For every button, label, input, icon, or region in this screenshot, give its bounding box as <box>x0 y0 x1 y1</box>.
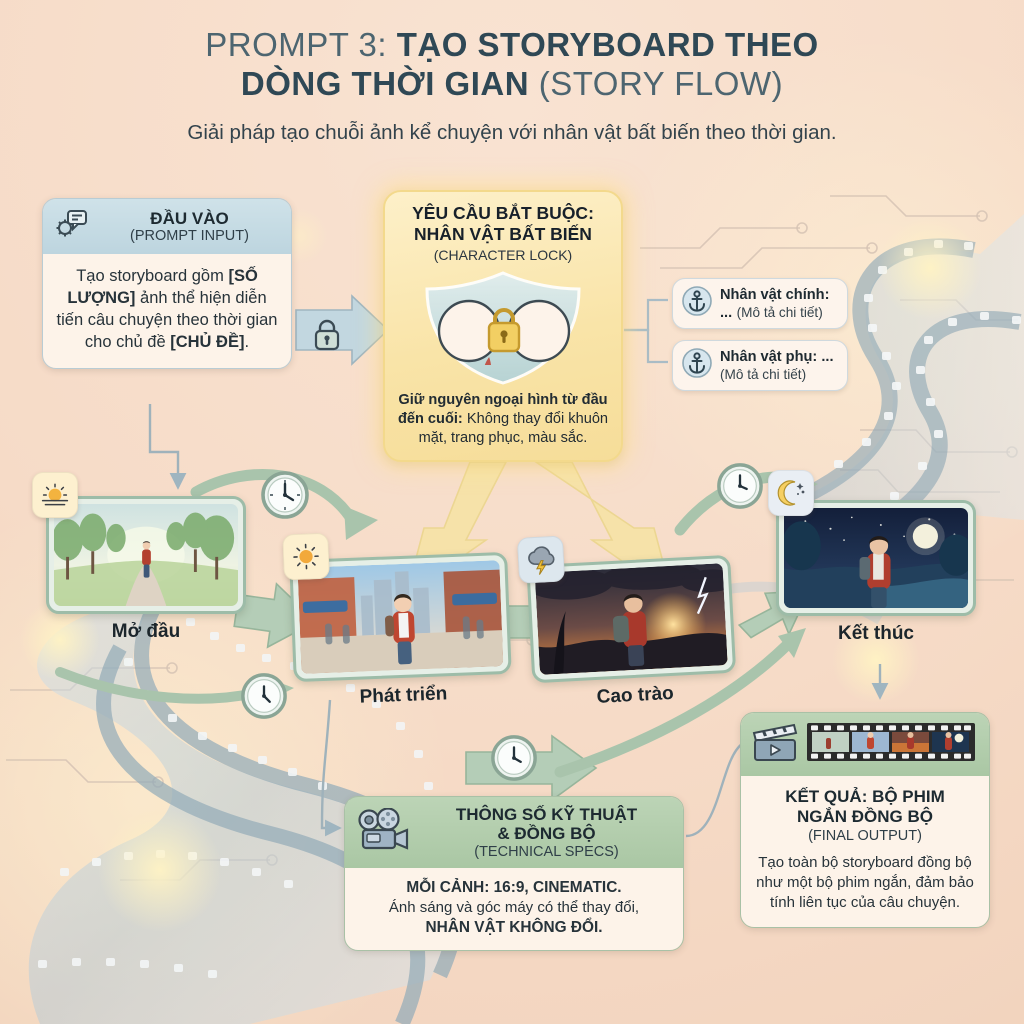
lock-card-note: Giữ nguyên ngoại hình từ đầu đến cuối: K… <box>395 391 611 448</box>
scene-card-1: Mở đầu <box>46 496 246 643</box>
chip-side-character[interactable]: Nhân vật phụ: ... (Mô tả chi tiết) <box>672 340 848 391</box>
scene-card-2: Phát triển <box>289 552 513 711</box>
final-output-note: Tạo toàn bộ storyboard đồng bộ như một b… <box>753 853 977 913</box>
clock-icon <box>240 672 288 725</box>
final-output-subtitle: (FINAL OUTPUT) <box>753 828 977 844</box>
lock-card-title-line2: NHÂN VẬT BẤT BIẾN <box>395 224 611 245</box>
anchor-icon <box>681 347 713 384</box>
anchor-icon <box>681 285 713 322</box>
tech-specs-line-ratio: MỖI CẢNH: 16:9, CINEMATIC. <box>357 878 671 898</box>
input-card-body: Tạo storyboard gồm [SỐ LƯỢNG] ảnh thể hi… <box>43 254 291 368</box>
final-output-header <box>741 713 989 776</box>
clock-icon <box>260 470 310 525</box>
tech-specs-line-character: NHÂN VẬT KHÔNG ĐỔI. <box>357 918 671 938</box>
input-body-part1: Tạo storyboard gồm <box>76 267 228 285</box>
chip-side-label: Nhân vật phụ: ... <box>720 349 834 365</box>
storm-cloud-icon <box>517 535 565 583</box>
page-title-line2: DÒNG THỜI GIAN (STORY FLOW) <box>0 65 1024 104</box>
tech-specs-body: MỖI CẢNH: 16:9, CINEMATIC. Ánh sáng và g… <box>345 868 683 950</box>
filmstrip-icon <box>807 721 975 768</box>
tech-specs-line-lighting: Ánh sáng và góc máy có thể thay đổi, <box>357 898 671 918</box>
movie-camera-icon <box>355 808 411 857</box>
sunrise-icon <box>32 472 78 518</box>
input-card-subtitle: (PROMPT INPUT) <box>99 228 280 245</box>
chip-side-detail: (Mô tả chi tiết) <box>720 367 806 382</box>
scene-4-caption: Kết thúc <box>776 623 976 645</box>
connector-tech-to-final <box>686 744 742 836</box>
clock-icon <box>490 734 538 787</box>
input-body-placeholder-topic: [CHỦ ĐỀ] <box>170 333 244 351</box>
page-title-line1: PROMPT 3: TẠO STORYBOARD THEO <box>0 26 1024 65</box>
scene-card-4: Kết thúc <box>776 500 976 645</box>
tech-specs-title-block: THÔNG SỐ KỸ THUẬT & ĐỒNG BỘ (TECHNICAL S… <box>420 805 673 860</box>
tech-specs-card: THÔNG SỐ KỸ THUẬT & ĐỒNG BỘ (TECHNICAL S… <box>344 796 684 951</box>
scene-1-frame <box>46 496 246 614</box>
input-card-title: ĐẦU VÀO <box>99 209 280 228</box>
final-output-body: KẾT QUẢ: BỘ PHIM NGẮN ĐỒNG BỘ (FINAL OUT… <box>741 776 989 927</box>
scene-4-frame <box>776 500 976 616</box>
scene-3-image <box>535 563 728 675</box>
infographic-canvas: PROMPT 3: TẠO STORYBOARD THEO DÒNG THỜI … <box>0 0 1024 1024</box>
scene-2-image <box>297 560 503 674</box>
chip-main-detail: (Mô tả chi tiết) <box>737 305 823 320</box>
lock-card-subtitle: (CHARACTER LOCK) <box>395 247 611 263</box>
input-card-header: ĐẦU VÀO (PROMPT INPUT) <box>43 199 291 254</box>
final-output-title-line2: NGẮN ĐỒNG BỘ <box>753 807 977 827</box>
tech-specs-title-line1: THÔNG SỐ KỸ THUẬT <box>420 805 673 824</box>
title-story-flow: (STORY FLOW) <box>539 65 783 102</box>
scene-card-3: Cao trào <box>526 555 737 712</box>
scene-1-image <box>54 504 238 606</box>
scene-1-caption: Mở đầu <box>46 621 246 643</box>
scene-4-image <box>784 508 968 608</box>
input-card: ĐẦU VÀO (PROMPT INPUT) Tạo storyboard gồ… <box>42 198 292 369</box>
clock-icon <box>716 462 764 515</box>
lock-card-title-line1: YÊU CẦU BẮT BUỘC: <box>395 203 611 224</box>
title-prompt-prefix: PROMPT 3: <box>205 26 396 63</box>
page-subtitle: Giải pháp tạo chuỗi ảnh kể chuyện với nh… <box>0 121 1024 145</box>
chip-main-text: Nhân vật chính: ... (Mô tả chi tiết) <box>720 286 835 322</box>
gear-chat-icon <box>54 208 90 245</box>
chip-main-character[interactable]: Nhân vật chính: ... (Mô tả chi tiết) <box>672 278 848 329</box>
connector-input-to-scene1 <box>150 404 178 486</box>
title-main-2: DÒNG THỜI GIAN <box>241 65 539 102</box>
shield-characters-lock-icon <box>395 269 611 387</box>
final-output-title-line1: KẾT QUẢ: BỘ PHIM <box>753 787 977 807</box>
tech-specs-subtitle: (TECHNICAL SPECS) <box>420 844 673 861</box>
moon-stars-icon <box>768 470 814 516</box>
connector-lock-to-chips <box>624 300 668 362</box>
tech-specs-header: THÔNG SỐ KỸ THUẬT & ĐỒNG BỘ (TECHNICAL S… <box>345 797 683 868</box>
input-card-title-block: ĐẦU VÀO (PROMPT INPUT) <box>99 209 280 245</box>
sun-icon <box>282 533 330 581</box>
connector-input-to-lock <box>296 296 388 364</box>
chip-side-text: Nhân vật phụ: ... (Mô tả chi tiết) <box>720 348 835 384</box>
clapperboard-icon <box>750 721 800 768</box>
lock-icon <box>312 318 342 357</box>
title-main-1: TẠO STORYBOARD THEO <box>397 26 819 63</box>
input-body-part3: . <box>244 333 249 351</box>
character-lock-card: YÊU CẦU BẮT BUỘC: NHÂN VẬT BẤT BIẾN (CHA… <box>383 190 623 462</box>
arrowhead-arc-1 <box>344 506 378 540</box>
header: PROMPT 3: TẠO STORYBOARD THEO DÒNG THỜI … <box>0 26 1024 145</box>
tech-specs-title-line2: & ĐỒNG BỘ <box>420 824 673 843</box>
final-output-card: KẾT QUẢ: BỘ PHIM NGẮN ĐỒNG BỘ (FINAL OUT… <box>740 712 990 928</box>
